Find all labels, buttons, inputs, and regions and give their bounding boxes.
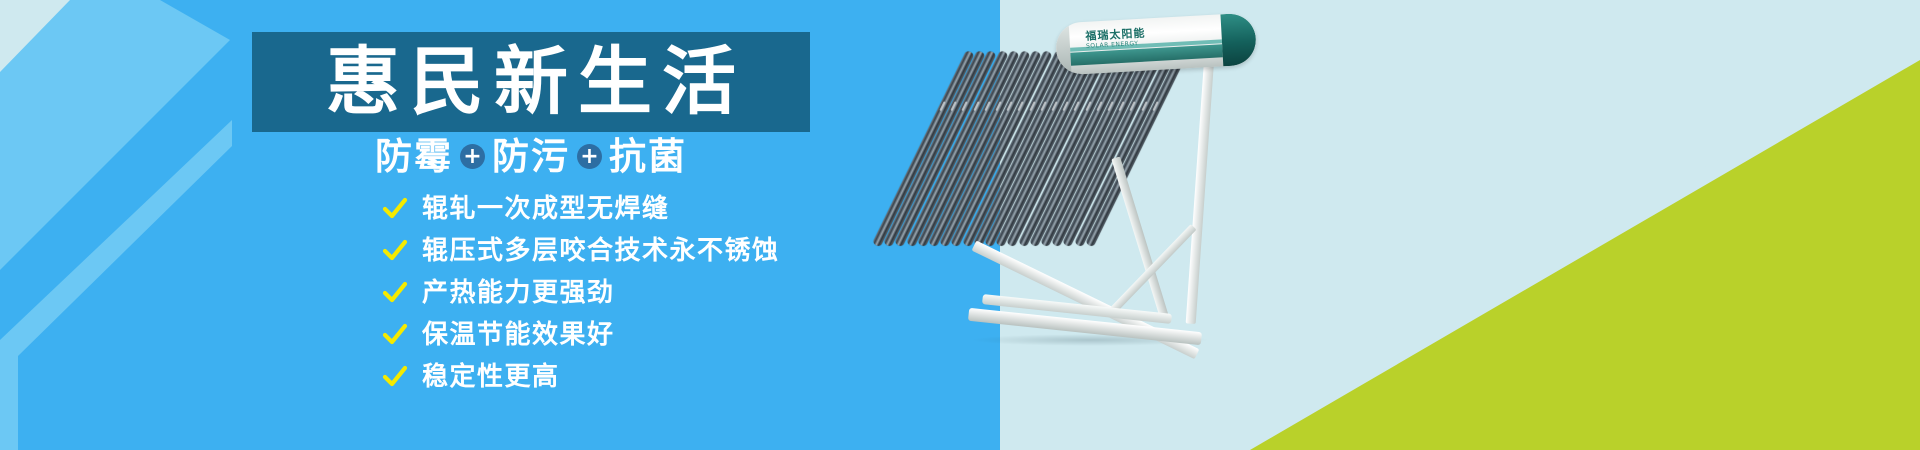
tube-highlight: [995, 101, 1001, 111]
list-item-label: 辊压式多层咬合技术永不锈蚀: [422, 238, 780, 264]
tube-highlight: [1018, 101, 1024, 111]
tube-highlight: [1152, 101, 1158, 111]
list-item-label: 辊轧一次成型无焊缝: [422, 196, 670, 222]
tube-highlight: [939, 101, 945, 111]
page-title: 惠民新生活: [316, 45, 746, 119]
tank-brand-label: 福瑞太阳能 SOLAR ENERGY: [1085, 28, 1146, 51]
subtitle-word-2: 防污: [492, 138, 570, 175]
list-item: 保温节能效果好: [382, 318, 780, 351]
list-item-label: 保温节能效果好: [422, 322, 615, 348]
tube-highlight: [1107, 101, 1113, 111]
check-icon: [382, 322, 408, 348]
tube-highlight: [1007, 101, 1013, 111]
tube-highlight: [1085, 101, 1091, 111]
tube-highlight: [1029, 101, 1035, 111]
tube-highlight: [984, 101, 990, 111]
tube-highlight: [951, 101, 957, 111]
tube-highlight: [1141, 101, 1147, 111]
solar-water-heater-image: 福瑞太阳能 SOLAR ENERGY: [940, 4, 1260, 374]
list-item: 辊轧一次成型无焊缝: [382, 192, 780, 225]
feature-list: 辊轧一次成型无焊缝 辊压式多层咬合技术永不锈蚀 产热能力更强劲 保温节能效果好: [382, 192, 780, 393]
tube-highlight: [1130, 101, 1136, 111]
tube-highlight: [1119, 101, 1125, 111]
tube-highlight: [1096, 101, 1102, 111]
list-item: 产热能力更强劲: [382, 276, 780, 309]
list-item-label: 稳定性更高: [422, 364, 560, 390]
check-icon: [382, 280, 408, 306]
tube-highlight: [973, 101, 979, 111]
subtitle-row: 防霉 + 防污 + 抗菌: [252, 138, 810, 175]
check-icon: [382, 196, 408, 222]
tube-highlight: [962, 101, 968, 111]
tube-highlight: [1063, 101, 1069, 111]
subtitle-word-1: 防霉: [375, 138, 453, 175]
list-item: 辊压式多层咬合技术永不锈蚀: [382, 234, 780, 267]
tube-highlight: [1074, 101, 1080, 111]
promo-banner: 惠民新生活 防霉 + 防污 + 抗菌 辊轧一次成型无焊缝 辊压式多层咬合技术永不…: [0, 0, 1920, 450]
check-icon: [382, 238, 408, 264]
list-item: 稳定性更高: [382, 360, 780, 393]
tube-highlight: [1051, 101, 1057, 111]
banner-content: 惠民新生活 防霉 + 防污 + 抗菌 辊轧一次成型无焊缝 辊压式多层咬合技术永不…: [0, 0, 1000, 450]
plus-icon: +: [577, 144, 602, 169]
tube-highlight: [1040, 101, 1046, 111]
tank-end-cap-right: [1220, 12, 1257, 66]
plus-icon: +: [460, 144, 485, 169]
check-icon: [382, 364, 408, 390]
subtitle-word-3: 抗菌: [609, 138, 687, 175]
list-item-label: 产热能力更强劲: [422, 280, 615, 306]
title-banner-box: 惠民新生活: [252, 32, 810, 132]
